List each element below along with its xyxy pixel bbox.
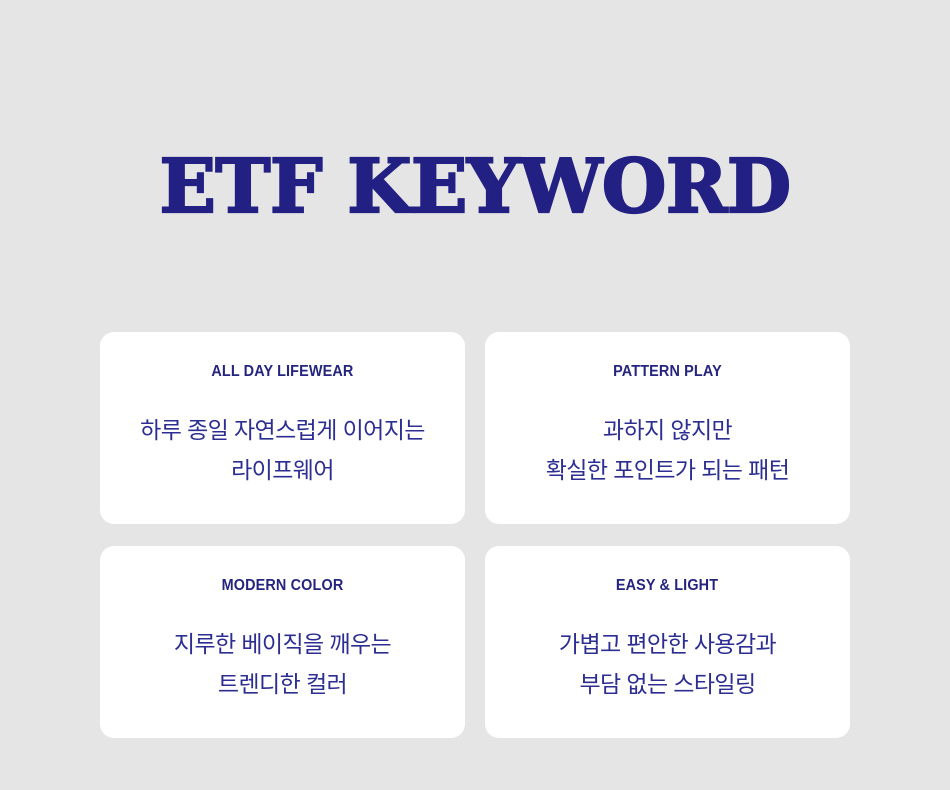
keyword-card-easy-and-light: EASY & LIGHT 가볍고 편안한 사용감과 부담 없는 스타일링 bbox=[485, 546, 850, 738]
etf-keyword-page: ETF KEYWORD ALL DAY LIFEWEAR 하루 종일 자연스럽게… bbox=[0, 0, 950, 790]
card-body: 지루한 베이직을 깨우는 트렌디한 컬러 bbox=[174, 624, 391, 704]
card-body-line: 과하지 않지만 bbox=[546, 410, 790, 450]
card-heading: ALL DAY LIFEWEAR bbox=[211, 362, 353, 382]
card-heading: PATTERN PLAY bbox=[613, 362, 722, 382]
card-body-line: 가볍고 편안한 사용감과 bbox=[559, 624, 776, 664]
card-body-line: 트렌디한 컬러 bbox=[174, 664, 391, 704]
card-body-line: 라이프웨어 bbox=[140, 450, 425, 490]
page-title: ETF KEYWORD bbox=[159, 146, 790, 228]
card-body-line: 지루한 베이직을 깨우는 bbox=[174, 624, 391, 664]
keyword-card-all-day-lifewear: ALL DAY LIFEWEAR 하루 종일 자연스럽게 이어지는 라이프웨어 bbox=[100, 332, 465, 524]
card-heading: EASY & LIGHT bbox=[616, 576, 718, 596]
card-body: 가볍고 편안한 사용감과 부담 없는 스타일링 bbox=[559, 624, 776, 704]
card-body-line: 부담 없는 스타일링 bbox=[559, 664, 776, 704]
card-heading: MODERN COLOR bbox=[222, 576, 344, 596]
card-body: 하루 종일 자연스럽게 이어지는 라이프웨어 bbox=[140, 410, 425, 490]
card-body-line: 확실한 포인트가 되는 패턴 bbox=[546, 450, 790, 490]
card-body-line: 하루 종일 자연스럽게 이어지는 bbox=[140, 410, 425, 450]
keyword-card-modern-color: MODERN COLOR 지루한 베이직을 깨우는 트렌디한 컬러 bbox=[100, 546, 465, 738]
keyword-card-grid: ALL DAY LIFEWEAR 하루 종일 자연스럽게 이어지는 라이프웨어 … bbox=[100, 332, 850, 740]
page-title-container: ETF KEYWORD bbox=[0, 146, 950, 228]
card-body: 과하지 않지만 확실한 포인트가 되는 패턴 bbox=[546, 410, 790, 490]
keyword-card-pattern-play: PATTERN PLAY 과하지 않지만 확실한 포인트가 되는 패턴 bbox=[485, 332, 850, 524]
